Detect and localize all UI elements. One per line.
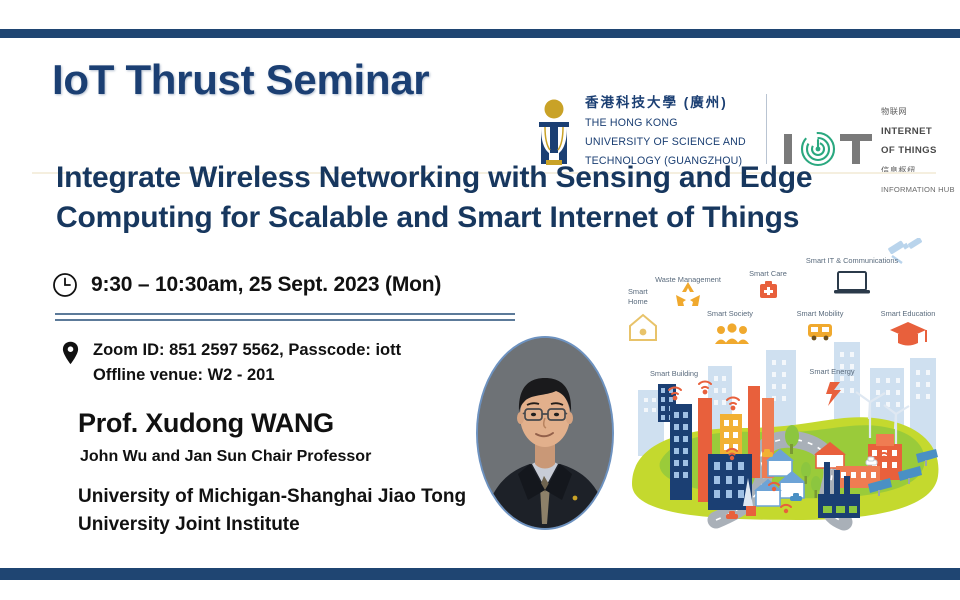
hkust-chinese-name: 香港科技大學 (廣州)	[585, 95, 728, 110]
top-navy-bar	[0, 29, 960, 38]
venue-row: Zoom ID: 851 2597 5562, Passcode: iott O…	[62, 338, 401, 388]
speaker-portrait	[478, 338, 612, 528]
location-pin-icon	[62, 341, 79, 365]
talk-title: Integrate Wireless Networking with Sensi…	[56, 158, 912, 238]
bottom-navy-bar	[0, 568, 960, 580]
speaker-name: Prof. Xudong WANG	[78, 408, 334, 439]
seminar-title: IoT Thrust Seminar	[52, 56, 429, 104]
seminar-poster: IoT Thrust Seminar 香港科技大學 (廣州) THE HONG …	[0, 0, 960, 600]
people-icon	[715, 323, 749, 344]
poster-header: IoT Thrust Seminar 香港科技大學 (廣州) THE HONG …	[0, 42, 960, 134]
divider-rule-upper	[55, 313, 515, 315]
smart-city-illustration: .lbl { font-family:"Liberation Sans", sa…	[620, 238, 950, 538]
hkust-english-line1: THE HONG KONG	[585, 117, 678, 129]
speaker-affiliation: University of Michigan-Shanghai Jiao Ton…	[78, 483, 478, 539]
label-smart-building: Smart Building	[650, 369, 698, 378]
smart-bus-icon	[808, 324, 832, 340]
iot-english-line1: INTERNET	[881, 126, 932, 137]
label-smart-care: Smart Care	[749, 269, 787, 278]
label-smart-energy: Smart Energy	[809, 367, 854, 376]
hkust-english-line2: UNIVERSITY OF SCIENCE AND	[585, 136, 746, 148]
laptop-icon	[834, 272, 870, 294]
recycle-icon	[676, 282, 700, 306]
medical-kit-icon	[760, 281, 777, 298]
divider-rule-lower	[55, 319, 515, 321]
label-smart-it-communications: Smart IT & Communications	[806, 256, 899, 265]
graduation-cap-icon	[890, 322, 926, 346]
seminar-datetime: 9:30 – 10:30am, 25 Sept. 2023 (Mon)	[91, 273, 441, 297]
logo-divider	[766, 94, 767, 164]
label-smart-mobility: Smart Mobility	[797, 309, 844, 318]
zoom-id-line: Zoom ID: 851 2597 5562, Passcode: iott	[93, 341, 401, 359]
label-smart-home-line1: Smart	[628, 287, 648, 296]
label-smart-home-line2: Home	[628, 297, 648, 306]
speaker-role: John Wu and Jan Sun Chair Professor	[80, 448, 371, 466]
iot-chinese-top: 物联网	[881, 107, 907, 116]
clock-icon	[52, 272, 78, 298]
label-smart-society: Smart Society	[707, 309, 753, 318]
iot-english-line2: OF THINGS	[881, 145, 937, 156]
smart-home-icon	[630, 315, 656, 340]
label-smart-education: Smart Education	[881, 309, 936, 318]
offline-venue-line: Offline venue: W2 - 201	[93, 366, 275, 384]
hkust-emblem-icon	[532, 96, 576, 168]
schedule-row: 9:30 – 10:30am, 25 Sept. 2023 (Mon)	[52, 272, 441, 298]
